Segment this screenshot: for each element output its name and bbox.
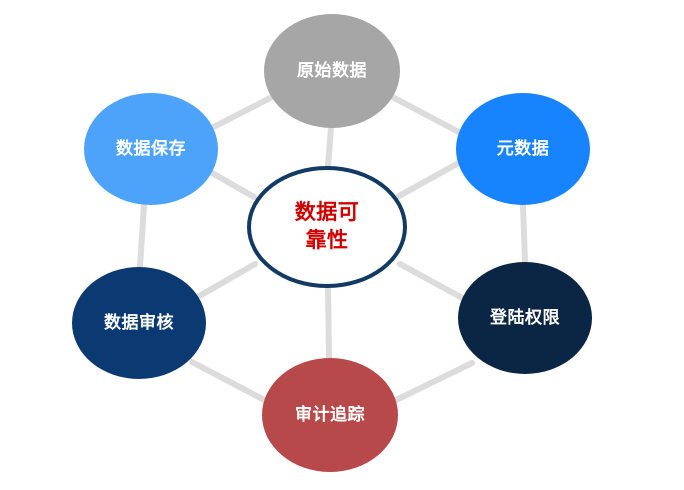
node-label-audit-trail: 审计追踪 [295,405,365,425]
node-metadata[interactable]: 元数据 [456,93,590,205]
spoke-center-to-lower-left [196,264,255,298]
node-label-data-review: 数据审核 [104,313,174,333]
node-label-login-permission: 登陆权限 [490,308,560,328]
connector-top-to-upper-right [385,93,470,138]
spoke-center-to-bottom [328,288,329,358]
diagram-canvas: 原始数据 元数据 登陆权限 审计追踪 数据审核 数据保存 数据可 靠性 [0,0,684,490]
node-data-review[interactable]: 数据审核 [72,267,206,379]
connector-bottom-to-lower-left [192,362,272,404]
node-label-original-data: 原始数据 [297,61,367,81]
node-data-storage[interactable]: 数据保存 [84,93,218,205]
connector-upper-right-to-lower-right [523,205,525,262]
node-audit-trail[interactable]: 审计追踪 [262,358,398,472]
node-center-data-reliability[interactable]: 数据可 靠性 [247,166,407,288]
node-label-center-line2: 靠性 [306,229,349,252]
node-label-center-line1: 数据可 [295,201,360,224]
connector-lower-right-to-bottom [388,363,472,404]
node-label-data-storage: 数据保存 [116,139,186,159]
node-label-metadata: 元数据 [497,139,550,159]
spoke-center-to-upper-right [399,160,464,196]
spoke-center-to-lower-right [400,264,466,300]
spoke-center-to-top [328,128,331,166]
connector-lower-left-to-upper-left [140,205,144,267]
node-original-data[interactable]: 原始数据 [264,14,400,128]
node-login-permission[interactable]: 登陆权限 [458,262,592,374]
node-label-center: 数据可 靠性 [295,199,360,256]
